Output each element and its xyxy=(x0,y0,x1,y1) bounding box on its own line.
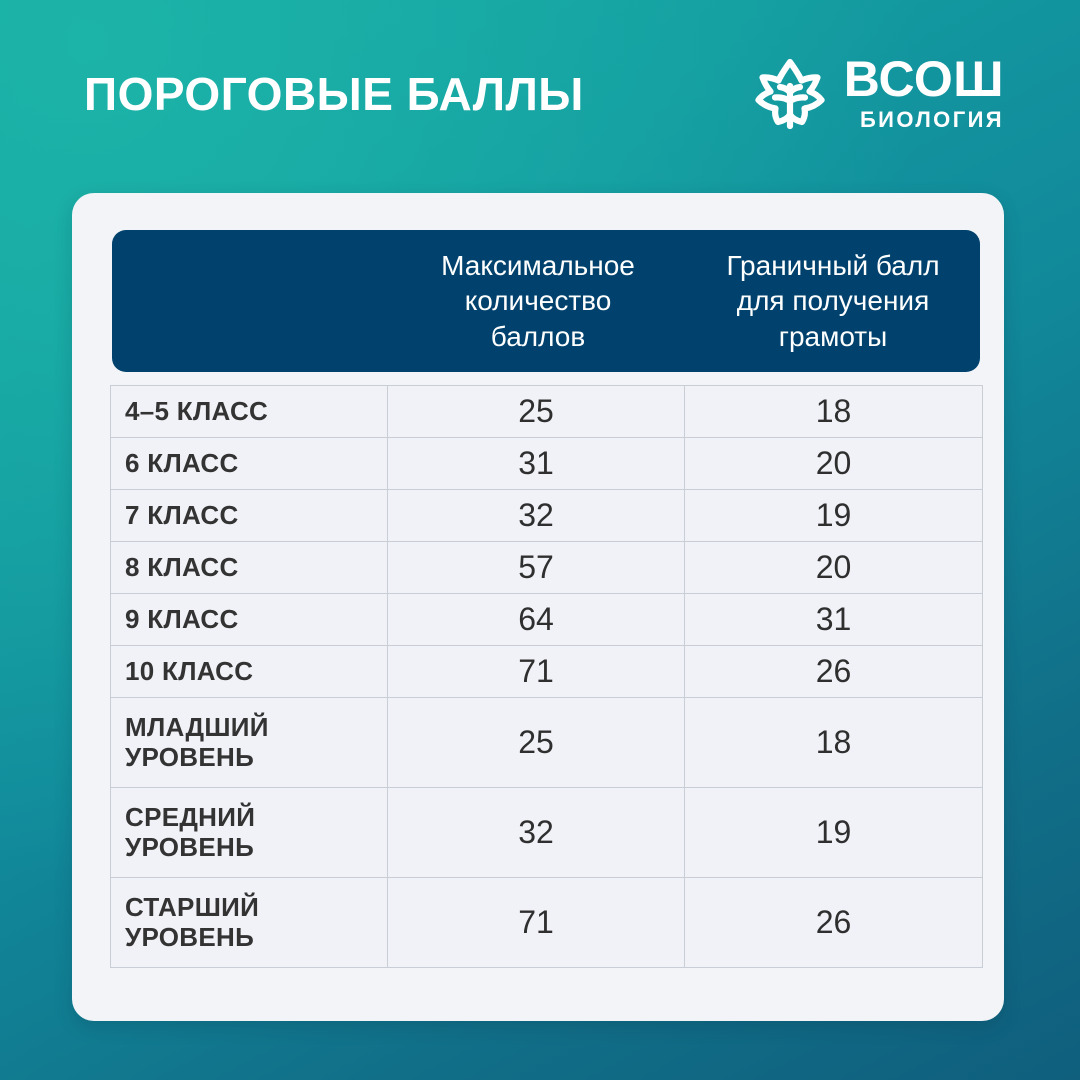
page-header: ПОРОГОВЫЕ БАЛЛЫ ВСОШ БИОЛОГИЯ xyxy=(0,0,1080,188)
table-cell-max-score: 31 xyxy=(388,438,685,490)
table-header-cell-blank xyxy=(112,230,390,372)
table-header-label-boundary-score: Граничный балл для получения грамоты xyxy=(726,248,939,354)
table-cell-boundary-score: 20 xyxy=(685,542,983,594)
table-cell-boundary-score: 26 xyxy=(685,878,983,968)
table-row: 9 КЛАСС6431 xyxy=(111,594,983,646)
table-header-cell-boundary-score: Граничный балл для получения грамоты xyxy=(686,230,980,372)
table-cell-boundary-score: 19 xyxy=(685,788,983,878)
scores-table-body: 4–5 КЛАСС25186 КЛАСС31207 КЛАСС32198 КЛА… xyxy=(111,386,983,968)
table-cell-boundary-score: 26 xyxy=(685,646,983,698)
table-cell-max-score: 71 xyxy=(388,878,685,968)
table-cell-category: МЛАДШИЙ УРОВЕНЬ xyxy=(111,698,388,788)
table-row: СТАРШИЙ УРОВЕНЬ7126 xyxy=(111,878,983,968)
table-row: СРЕДНИЙ УРОВЕНЬ3219 xyxy=(111,788,983,878)
brand-subject: БИОЛОГИЯ xyxy=(860,106,1004,134)
table-cell-max-score: 25 xyxy=(388,698,685,788)
table-row: 8 КЛАСС5720 xyxy=(111,542,983,594)
table-cell-max-score: 25 xyxy=(388,386,685,438)
table-cell-boundary-score: 20 xyxy=(685,438,983,490)
table-cell-boundary-score: 18 xyxy=(685,386,983,438)
table-cell-boundary-score: 18 xyxy=(685,698,983,788)
brand-name: ВСОШ xyxy=(844,55,1004,104)
table-header-label-max-score: Максимальное количество баллов xyxy=(441,248,635,354)
brand-logo: ВСОШ БИОЛОГИЯ xyxy=(754,55,1004,134)
table-cell-max-score: 32 xyxy=(388,490,685,542)
table-cell-category: СТАРШИЙ УРОВЕНЬ xyxy=(111,878,388,968)
table-cell-max-score: 57 xyxy=(388,542,685,594)
table-row: 10 КЛАСС7126 xyxy=(111,646,983,698)
table-cell-category: 9 КЛАСС xyxy=(111,594,388,646)
table-row: 4–5 КЛАСС2518 xyxy=(111,386,983,438)
table-cell-category: 4–5 КЛАСС xyxy=(111,386,388,438)
table-cell-category: 7 КЛАСС xyxy=(111,490,388,542)
table-header-cell-max-score: Максимальное количество баллов xyxy=(390,230,686,372)
table-cell-category: 8 КЛАСС xyxy=(111,542,388,594)
table-cell-max-score: 64 xyxy=(388,594,685,646)
table-row: 7 КЛАСС3219 xyxy=(111,490,983,542)
table-cell-category: 10 КЛАСС xyxy=(111,646,388,698)
table-cell-boundary-score: 31 xyxy=(685,594,983,646)
table-cell-category: 6 КЛАСС xyxy=(111,438,388,490)
brand-text: ВСОШ БИОЛОГИЯ xyxy=(844,55,1004,134)
table-row: МЛАДШИЙ УРОВЕНЬ2518 xyxy=(111,698,983,788)
table-header-band: Максимальное количество баллов Граничный… xyxy=(112,230,980,372)
scores-table: 4–5 КЛАСС25186 КЛАСС31207 КЛАСС32198 КЛА… xyxy=(110,385,983,968)
page-title: ПОРОГОВЫЕ БАЛЛЫ xyxy=(84,71,584,117)
leaf-icon xyxy=(754,56,826,132)
table-cell-max-score: 32 xyxy=(388,788,685,878)
table-row: 6 КЛАСС3120 xyxy=(111,438,983,490)
table-cell-category: СРЕДНИЙ УРОВЕНЬ xyxy=(111,788,388,878)
table-cell-max-score: 71 xyxy=(388,646,685,698)
table-cell-boundary-score: 19 xyxy=(685,490,983,542)
